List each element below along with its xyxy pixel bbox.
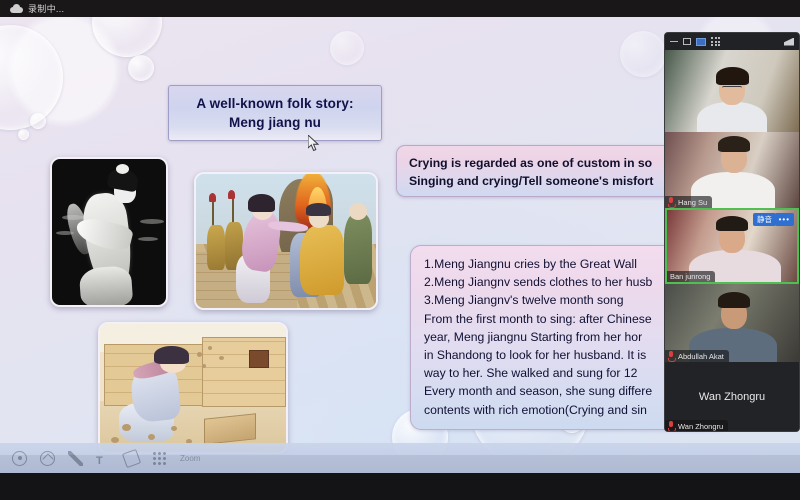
minimize-icon[interactable] xyxy=(670,41,678,43)
screen-root: 录制中... A well-known folk story: Meng jia… xyxy=(0,0,800,500)
mic-muted-icon xyxy=(668,197,675,207)
circle-dot-icon[interactable] xyxy=(12,451,27,466)
participant-tile-active-speaker[interactable]: 静音 ••• Ban junrong xyxy=(665,208,799,284)
participant-label: Wan Zhongru xyxy=(665,420,728,432)
gallery-view-icon[interactable] xyxy=(711,37,720,46)
mic-muted-icon xyxy=(668,421,675,431)
participant-tile[interactable]: Hang Su xyxy=(665,132,799,208)
dots-icon[interactable] xyxy=(152,451,167,466)
eraser-icon[interactable] xyxy=(122,448,141,467)
participant-name-placeholder: Wan Zhongru xyxy=(665,391,799,403)
bubble-decoration xyxy=(30,113,46,129)
bubble-decoration xyxy=(330,31,364,65)
mic-muted-icon xyxy=(668,351,675,361)
bubble-decoration xyxy=(18,129,29,140)
participant-label: Ban junrong xyxy=(667,271,715,282)
participant-name: Abdullah Akat xyxy=(678,352,724,361)
collapse-icon[interactable] xyxy=(784,38,794,46)
annotation-toolbar[interactable]: T Zoom xyxy=(0,443,800,473)
slide-title-line1: A well-known folk story: xyxy=(196,94,353,113)
single-view-icon[interactable] xyxy=(683,38,691,45)
video-person-hair xyxy=(716,67,749,85)
taskbar xyxy=(0,473,800,500)
mute-badge[interactable]: 静音 xyxy=(753,213,776,226)
recording-status-text: 录制中... xyxy=(28,2,64,15)
video-person-hair xyxy=(716,216,748,231)
folk-painting-image xyxy=(194,172,378,310)
participant-label: Abdullah Akat xyxy=(665,350,729,362)
arrow-circle-icon[interactable] xyxy=(40,451,55,466)
speaker-view-icon[interactable] xyxy=(696,38,706,46)
recording-bar: 录制中... xyxy=(0,0,800,17)
video-participants-panel[interactable]: Hang Su 静音 ••• Ban junrong Abdullah Akat xyxy=(664,32,800,432)
great-wall-cartoon-image xyxy=(98,322,288,454)
participant-name: Wan Zhongru xyxy=(678,422,723,431)
text-icon[interactable]: T xyxy=(96,451,111,466)
pen-icon[interactable] xyxy=(68,451,83,466)
mouse-cursor xyxy=(308,135,320,152)
bubble-decoration xyxy=(620,31,666,77)
slide-title-line2: Meng jiang nu xyxy=(229,113,321,132)
video-person-glasses xyxy=(722,86,742,91)
more-options-button[interactable]: ••• xyxy=(775,213,794,226)
slide-title-box: A well-known folk story: Meng jiang nu xyxy=(168,85,382,141)
zoom-hint-label: Zoom xyxy=(180,454,200,463)
participant-label: Hang Su xyxy=(665,196,712,208)
bubble-decoration xyxy=(92,17,162,57)
participant-tile[interactable] xyxy=(665,50,799,132)
meng-jiangnu-portrait-image xyxy=(50,157,168,307)
participant-tile[interactable]: Wan Zhongru Wan Zhongru xyxy=(665,362,799,432)
video-person-body xyxy=(697,102,767,132)
video-person-hair xyxy=(718,292,750,308)
participant-name: Ban junrong xyxy=(670,272,710,281)
video-panel-toolbar[interactable] xyxy=(665,33,799,50)
participant-name: Hang Su xyxy=(678,198,707,207)
bubble-decoration xyxy=(128,55,154,81)
text-tool-label: T xyxy=(96,455,103,467)
cloud-icon xyxy=(10,4,23,13)
participant-tile[interactable]: Abdullah Akat xyxy=(665,284,799,362)
video-person-hair xyxy=(718,136,750,152)
